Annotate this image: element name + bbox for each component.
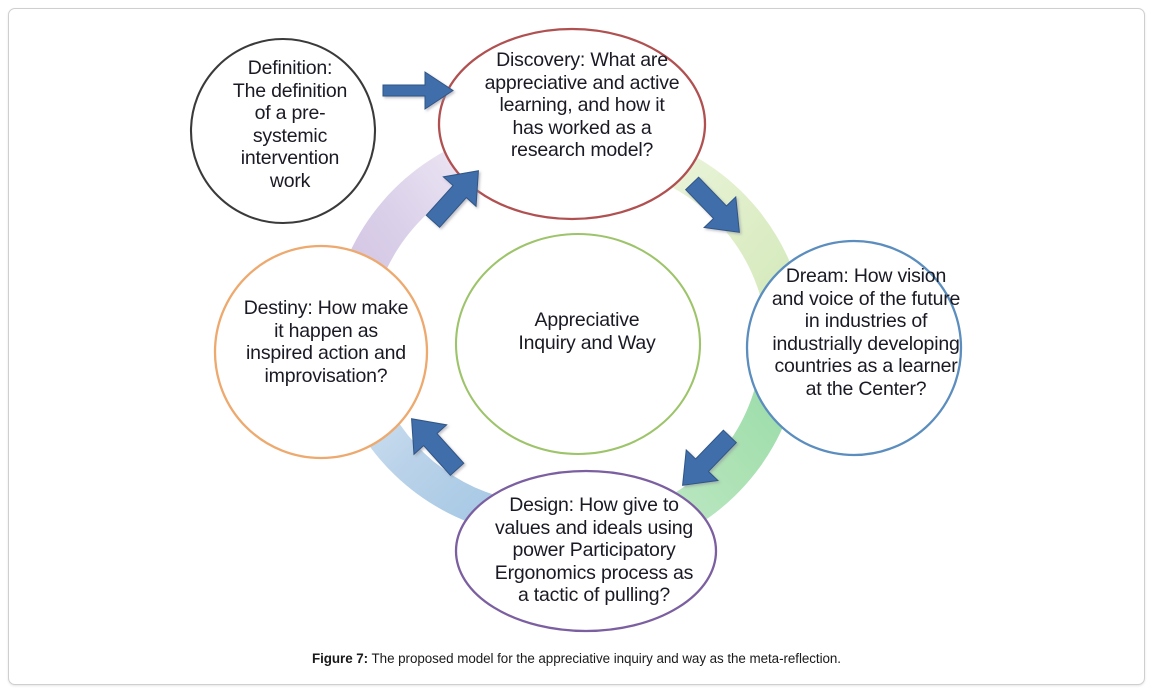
node-discovery-shape <box>439 29 705 219</box>
figure-caption-text: The proposed model for the appreciative … <box>368 651 841 666</box>
diagram-canvas <box>9 9 1145 685</box>
node-design-shape <box>456 471 716 631</box>
node-center-shape <box>456 234 700 454</box>
node-dream-shape <box>747 241 961 455</box>
figure-caption-label: Figure 7: <box>312 651 368 666</box>
figure-caption: Figure 7: The proposed model for the app… <box>9 651 1144 666</box>
node-outlines <box>191 29 961 631</box>
figure-frame: Definition: The definition of a pre- sys… <box>8 8 1145 685</box>
node-definition-shape <box>191 39 375 223</box>
node-destiny-shape <box>215 246 427 458</box>
